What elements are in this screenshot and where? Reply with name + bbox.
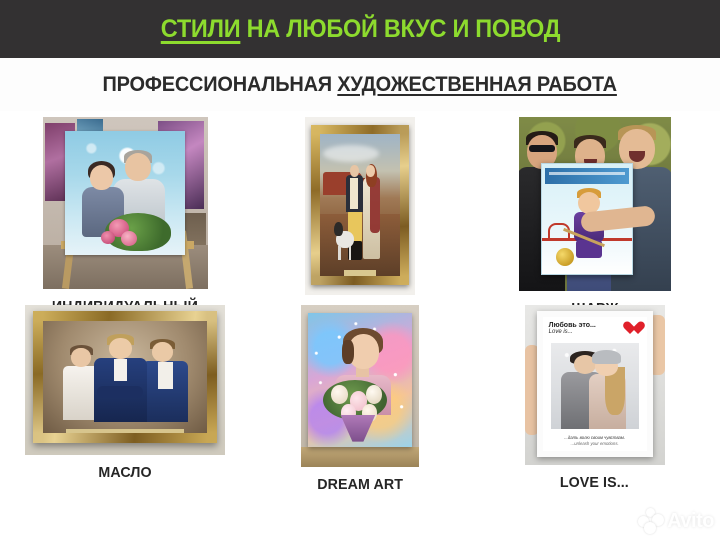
man-shirt <box>114 359 127 381</box>
teen-head <box>152 342 173 362</box>
classical-painting-canvas <box>320 134 400 276</box>
white-frame: Любовь это... Love is... <box>537 311 653 457</box>
artwork-thumbnail-dream-art[interactable] <box>301 305 419 467</box>
avito-wordmark: Avito <box>667 510 714 533</box>
dog-leg-2 <box>349 246 351 260</box>
avito-logo-icon <box>638 508 664 534</box>
avito-dot-1 <box>638 516 649 527</box>
gallery-row-2: МАСЛО <box>8 305 712 470</box>
man-head <box>109 338 132 359</box>
gold-frame <box>33 311 217 443</box>
style-gallery: ИНДИВИДУАЛЬНЫЙ <box>0 117 720 470</box>
knit-hat <box>592 350 621 364</box>
page-title-underlined: СТИЛИ <box>160 15 240 43</box>
caption-row: LOVE IS... <box>558 465 631 499</box>
style-caption-love-is: LOVE IS... <box>560 474 629 491</box>
heart-icon <box>627 322 641 334</box>
gallery-row-1: ИНДИВИДУАЛЬНЫЙ <box>8 117 712 297</box>
style-card-love-is[interactable]: Любовь это... Love is... <box>477 305 712 499</box>
style-card-dream-art[interactable]: DREAM ART <box>243 305 478 501</box>
oil-painting-canvas <box>43 321 207 433</box>
couple-photo <box>551 343 639 429</box>
flower-3 <box>366 385 382 404</box>
boy-head <box>71 348 91 367</box>
artwork-thumbnail-love-is[interactable]: Любовь это... Love is... <box>525 305 665 465</box>
frame-plaque <box>344 270 376 276</box>
artwork-thumbnail-caricature[interactable] <box>519 117 671 291</box>
poster-inner: Любовь это... Love is... <box>543 317 647 451</box>
style-caption-dream-art: DREAM ART <box>317 476 403 493</box>
avito-dot-4 <box>644 522 656 534</box>
subheading-bar: ПРОФЕССИОНАЛЬНАЯ ХУДОЖЕСТВЕННАЯ РАБОТА <box>0 58 720 111</box>
subheading-plain: ПРОФЕССИОНАЛЬНАЯ <box>103 73 338 96</box>
dream-art-canvas <box>308 313 412 447</box>
dog-head <box>334 222 343 236</box>
portrait-canvas <box>65 131 185 255</box>
man-head <box>125 153 151 181</box>
subheading-underlined: ХУДОЖЕСТВЕННАЯ РАБОТА <box>338 73 618 96</box>
artwork-thumbnail-oil[interactable] <box>25 305 225 455</box>
caption-row: МАСЛО <box>97 455 153 489</box>
style-card-oil[interactable]: МАСЛО <box>8 305 243 489</box>
style-card-in-image[interactable]: В ОБРАЗЕ <box>243 117 478 329</box>
rink-boards <box>545 168 629 184</box>
flower-1 <box>331 385 348 404</box>
header-banner: СТИЛИ НА ЛЮБОЙ ВКУС И ПОВОД <box>0 0 720 58</box>
easel-ledge <box>301 447 419 467</box>
artwork-thumbnail-in-image[interactable] <box>305 117 415 295</box>
subheading: ПРОФЕССИОНАЛЬНАЯ ХУДОЖЕСТВЕННАЯ РАБОТА <box>103 73 617 97</box>
man-head <box>350 165 359 176</box>
caption-row: DREAM ART <box>315 467 405 501</box>
sky-cloud <box>323 145 379 162</box>
sunglasses-icon <box>529 145 555 152</box>
avito-watermark: Avito <box>638 508 714 534</box>
dog-leg-1 <box>338 246 340 260</box>
artwork-thumbnail-individual[interactable] <box>43 117 208 289</box>
page-title: СТИЛИ НА ЛЮБОЙ ВКУС И ПОВОД <box>160 17 559 42</box>
frame-shelf <box>66 429 184 433</box>
poster-footer-ru: ...дать волю своим чувствам. <box>551 435 639 440</box>
flower-3 <box>101 231 115 244</box>
teen-tshirt <box>158 362 173 389</box>
avito-dot-3 <box>652 514 664 526</box>
gold-trophy-icon <box>556 248 574 266</box>
man-vest <box>350 178 358 209</box>
poster-footer-en: ...unleash your emotions. <box>551 441 639 446</box>
woman-head <box>90 165 113 190</box>
avito-dot-2 <box>646 508 655 517</box>
woman-head <box>366 165 375 176</box>
gold-frame <box>311 125 409 285</box>
man-folded-arms <box>97 386 143 398</box>
woman-hair-side <box>342 340 353 364</box>
style-card-caricature[interactable]: ШАРЖ <box>477 117 712 325</box>
page-title-rest: НА ЛЮБОЙ ВКУС И ПОВОД <box>240 15 560 43</box>
flower-2 <box>121 231 137 246</box>
style-card-individual[interactable]: ИНДИВИДУАЛЬНЫЙ <box>8 117 243 323</box>
style-caption-oil: МАСЛО <box>99 464 152 481</box>
